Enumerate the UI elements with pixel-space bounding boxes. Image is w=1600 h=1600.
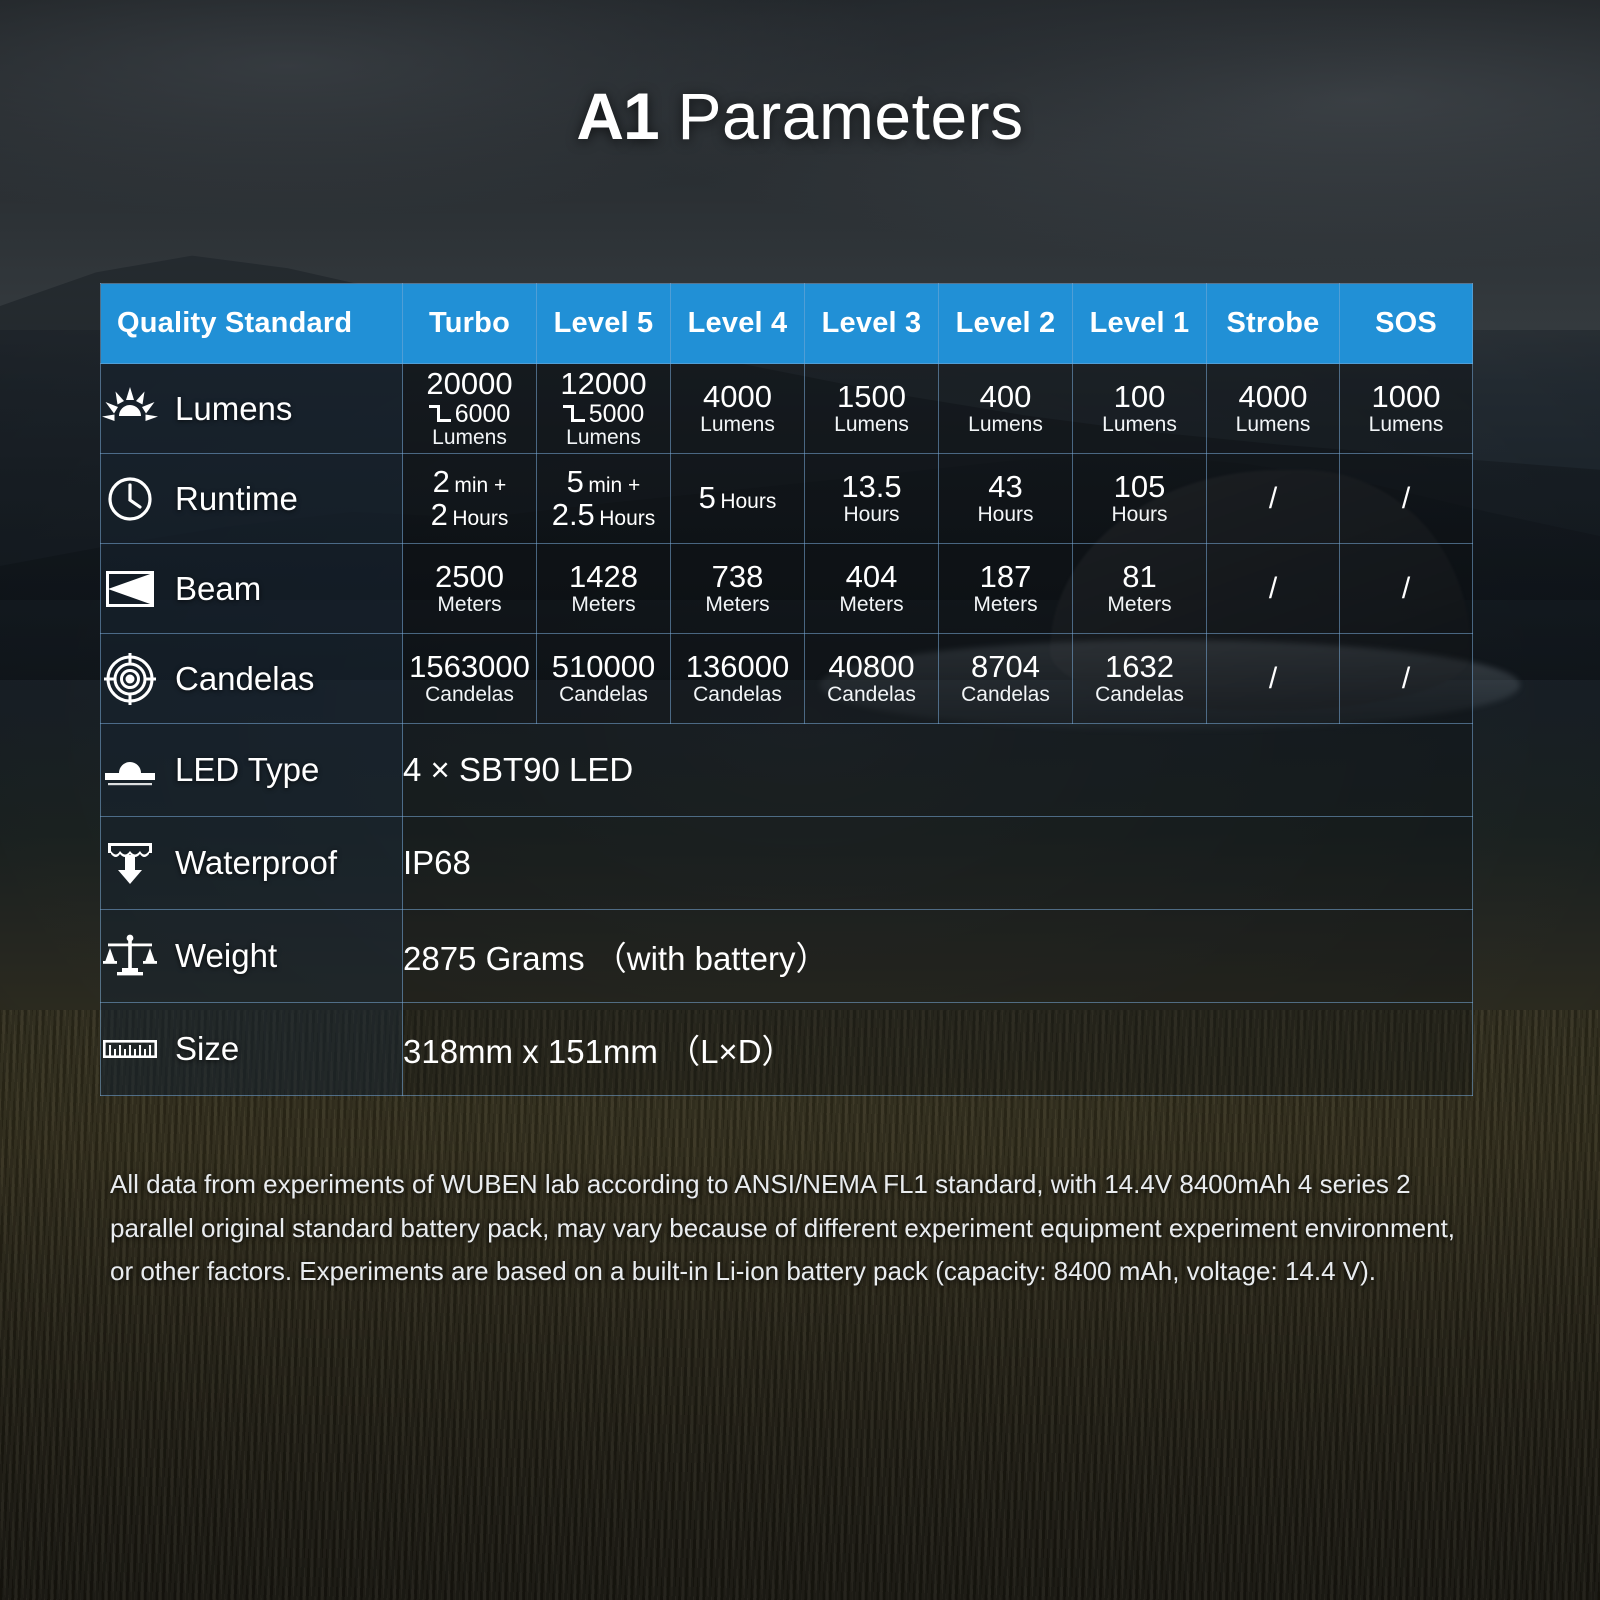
cell-primary-value: 12000 <box>537 368 670 400</box>
table-cell: / <box>1340 454 1473 544</box>
cell-dash: / <box>1402 662 1410 695</box>
table-cell: 120005000Lumens <box>537 364 671 454</box>
cell-line-1: 2 min + <box>433 479 507 496</box>
row-label-text: Beam <box>175 570 261 608</box>
cell-unit: Lumens <box>1073 414 1206 436</box>
row-label-lumens: Lumens <box>101 364 403 454</box>
row-label-text: Weight <box>175 937 277 975</box>
table-cell: 400Lumens <box>939 364 1073 454</box>
cell-primary-value: 1428 <box>537 561 670 593</box>
cell-unit: Hours <box>805 504 938 526</box>
cell-primary-value: 187 <box>939 561 1072 593</box>
scales-icon <box>101 931 159 981</box>
cell-unit: Candelas <box>805 684 938 706</box>
cell-unit: Candelas <box>537 684 670 706</box>
cell-line-1: 5 min + <box>567 479 641 496</box>
table-cell: / <box>1340 544 1473 634</box>
page-title-rest: Parameters <box>659 79 1024 153</box>
cell-stepdown-value: 6000 <box>403 401 536 427</box>
cell-unit: Meters <box>805 594 938 616</box>
cell-primary-value: 4000 <box>671 381 804 413</box>
cell-line-2: 2.5 Hours <box>552 512 656 529</box>
table-cell: 2 min +2 Hours <box>403 454 537 544</box>
sun-rays-icon <box>101 384 159 434</box>
cell-unit: Lumens <box>671 414 804 436</box>
cell-primary-value: 81 <box>1073 561 1206 593</box>
footnote-text: All data from experiments of WUBEN lab a… <box>110 1163 1480 1294</box>
column-header-level-4: Level 4 <box>671 284 805 364</box>
table-cell: 5 min +2.5 Hours <box>537 454 671 544</box>
row-label-runtime: Runtime <box>101 454 403 544</box>
table-cell: / <box>1207 454 1340 544</box>
row-label-text: Candelas <box>175 660 314 698</box>
table-cell: 81Meters <box>1073 544 1207 634</box>
cell-unit: Lumens <box>1207 414 1339 436</box>
table-cell: 4000Lumens <box>671 364 805 454</box>
column-header-level-5: Level 5 <box>537 284 671 364</box>
table-cell: 43Hours <box>939 454 1073 544</box>
cell-primary-value: 136000 <box>671 651 804 683</box>
cell-unit: Candelas <box>939 684 1072 706</box>
row-label-text: Waterproof <box>175 844 337 882</box>
column-header-strobe: Strobe <box>1207 284 1340 364</box>
table-cell: 738Meters <box>671 544 805 634</box>
row-value: 2875 Grams （with battery） <box>403 910 1473 1003</box>
page-title-model: A1 <box>576 79 658 153</box>
cell-primary-value: 738 <box>671 561 804 593</box>
table-cell: 2500Meters <box>403 544 537 634</box>
page-title: A1 Parameters <box>0 78 1600 154</box>
cell-dash: / <box>1269 482 1277 515</box>
table-cell: 200006000Lumens <box>403 364 537 454</box>
cell-unit: Hours <box>1073 504 1206 526</box>
cell-primary-value: 404 <box>805 561 938 593</box>
table-cell: 13.5Hours <box>805 454 939 544</box>
row-label-text: Size <box>175 1030 239 1068</box>
table-cell: 510000Candelas <box>537 634 671 724</box>
row-label-candelas: Candelas <box>101 634 403 724</box>
column-header-quality-standard: Quality Standard <box>101 284 403 364</box>
cell-primary-value: 510000 <box>537 651 670 683</box>
cell-unit: Lumens <box>1340 414 1472 436</box>
led-icon <box>101 745 159 795</box>
cell-unit: Lumens <box>403 427 536 449</box>
clock-icon <box>101 474 159 524</box>
beam-icon <box>101 564 159 614</box>
cell-unit: Lumens <box>939 414 1072 436</box>
table-cell: 404Meters <box>805 544 939 634</box>
cell-unit: Meters <box>537 594 670 616</box>
row-label-text: Runtime <box>175 480 298 518</box>
table-cell: 136000Candelas <box>671 634 805 724</box>
table-header-row: Quality Standard Turbo Level 5 Level 4 L… <box>101 284 1473 364</box>
cell-primary-value: 13.5 <box>805 471 938 503</box>
cell-stepdown-value: 5000 <box>537 401 670 427</box>
table-cell: 1000Lumens <box>1340 364 1473 454</box>
row-label-size: Size <box>101 1003 403 1096</box>
column-header-level-3: Level 3 <box>805 284 939 364</box>
ruler-icon <box>101 1024 159 1074</box>
table-cell: 100Lumens <box>1073 364 1207 454</box>
cell-dash: / <box>1269 662 1277 695</box>
cell-inline-value: 5 Hours <box>699 495 777 512</box>
row-label-beam: Beam <box>101 544 403 634</box>
cell-primary-value: 100 <box>1073 381 1206 413</box>
table-row: Lumens 200006000Lumens120005000Lumens400… <box>101 364 1473 454</box>
cell-unit: Candelas <box>671 684 804 706</box>
grass-foreground <box>0 1010 1600 1600</box>
table-cell: 1563000Candelas <box>403 634 537 724</box>
table-cell: 1500Lumens <box>805 364 939 454</box>
cell-primary-value: 1632 <box>1073 651 1206 683</box>
cell-primary-value: 8704 <box>939 651 1072 683</box>
cell-unit: Meters <box>1073 594 1206 616</box>
spec-table-body: Lumens 200006000Lumens120005000Lumens400… <box>101 364 1473 1096</box>
row-label-led-type: LED Type <box>101 724 403 817</box>
column-header-turbo: Turbo <box>403 284 537 364</box>
table-cell: 187Meters <box>939 544 1073 634</box>
waterdrop-icon <box>101 838 159 888</box>
table-cell: 4000Lumens <box>1207 364 1340 454</box>
table-cell: / <box>1340 634 1473 724</box>
cell-unit: Candelas <box>403 684 536 706</box>
spec-table: Quality Standard Turbo Level 5 Level 4 L… <box>100 283 1473 1096</box>
table-row: LED Type 4 × SBT90 LED <box>101 724 1473 817</box>
stepdown-arrow-icon <box>429 405 451 422</box>
table-row: Waterproof IP68 <box>101 817 1473 910</box>
column-header-level-1: Level 1 <box>1073 284 1207 364</box>
cell-primary-value: 4000 <box>1207 381 1339 413</box>
cell-primary-value: 400 <box>939 381 1072 413</box>
cell-unit: Candelas <box>1073 684 1206 706</box>
table-cell: / <box>1207 634 1340 724</box>
column-header-sos: SOS <box>1340 284 1473 364</box>
table-cell: / <box>1207 544 1340 634</box>
cell-primary-value: 2500 <box>403 561 536 593</box>
cell-dash: / <box>1402 482 1410 515</box>
cell-primary-value: 20000 <box>403 368 536 400</box>
row-label-weight: Weight <box>101 910 403 1003</box>
spec-table-container: Quality Standard Turbo Level 5 Level 4 L… <box>100 283 1472 1096</box>
row-label-text: LED Type <box>175 751 319 789</box>
cell-unit: Meters <box>939 594 1072 616</box>
cell-unit: Meters <box>671 594 804 616</box>
cell-primary-value: 43 <box>939 471 1072 503</box>
target-icon <box>101 654 159 704</box>
table-cell: 8704Candelas <box>939 634 1073 724</box>
cell-line-2: 2 Hours <box>431 512 509 529</box>
table-cell: 5 Hours <box>671 454 805 544</box>
cell-primary-value: 1500 <box>805 381 938 413</box>
cell-unit: Meters <box>403 594 536 616</box>
column-header-level-2: Level 2 <box>939 284 1073 364</box>
row-value: 318mm x 151mm （L×D） <box>403 1003 1473 1096</box>
row-value: 4 × SBT90 LED <box>403 724 1473 817</box>
table-cell: 1428Meters <box>537 544 671 634</box>
table-cell: 40800Candelas <box>805 634 939 724</box>
table-cell: 1632Candelas <box>1073 634 1207 724</box>
cell-unit: Hours <box>939 504 1072 526</box>
cell-primary-value: 1000 <box>1340 381 1472 413</box>
table-row: Candelas 1563000Candelas510000Candelas13… <box>101 634 1473 724</box>
cell-primary-value: 105 <box>1073 471 1206 503</box>
cell-unit: Lumens <box>537 427 670 449</box>
cell-unit: Lumens <box>805 414 938 436</box>
row-label-text: Lumens <box>175 390 292 428</box>
table-row: Runtime 2 min +2 Hours5 min +2.5 Hours5 … <box>101 454 1473 544</box>
table-row: Beam 2500Meters1428Meters738Meters404Met… <box>101 544 1473 634</box>
row-value: IP68 <box>403 817 1473 910</box>
cell-primary-value: 40800 <box>805 651 938 683</box>
table-row: Size 318mm x 151mm （L×D） <box>101 1003 1473 1096</box>
row-label-waterproof: Waterproof <box>101 817 403 910</box>
cell-dash: / <box>1269 572 1277 605</box>
stepdown-arrow-icon <box>563 405 585 422</box>
table-row: Weight 2875 Grams （with battery） <box>101 910 1473 1003</box>
cell-dash: / <box>1402 572 1410 605</box>
table-cell: 105Hours <box>1073 454 1207 544</box>
cell-primary-value: 1563000 <box>403 651 536 683</box>
